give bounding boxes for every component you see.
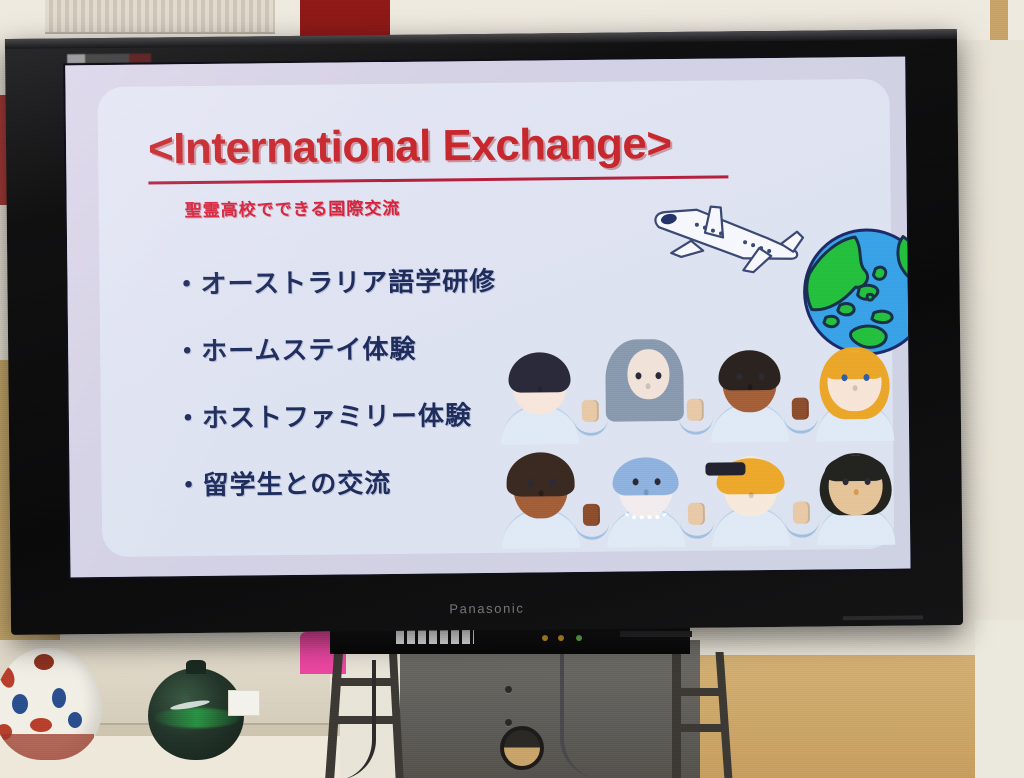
people-illustration [486,337,908,553]
player-led-2 [558,635,564,641]
player-led-1 [542,635,548,641]
photo-scene: Panasonic <International Exchange> 聖霊高校で… [0,0,1024,778]
person-dark-hair-medium-skin [802,441,908,546]
av-cable-2 [330,660,376,778]
presentation-slide: <International Exchange> 聖霊高校でできる国際交流 ・オ… [65,57,910,578]
ceiling-vent [45,0,275,34]
slide-subtitle: 聖霊高校でできる国際交流 [185,194,401,221]
player-led-3 [576,635,582,641]
person-blonde-sunglasses [697,442,803,547]
stand-rail-right-2 [676,724,728,732]
people-row-bottom [487,441,908,549]
tv-brand-logo: Panasonic [449,601,524,617]
bullet-item: ・ホームステイ体験 [174,328,497,368]
player-button-strip[interactable] [396,630,474,644]
person-blonde-long-hair [801,337,907,442]
slide-content-card: <International Exchange> 聖霊高校でできる国際交流 ・オ… [97,79,894,557]
tv-bezel-notch [843,615,923,620]
right-wall [975,620,1024,778]
person-hijab [591,339,697,444]
airplane-icon [647,192,808,284]
people-row-top [486,337,907,445]
stand-rail-right-1 [672,688,726,696]
person-dark-skin-curly-hair [487,444,593,549]
exhibit-label-card [228,690,260,716]
tv-screen: <International Exchange> 聖霊高校でできる国際交流 ・オ… [65,57,910,578]
person-blue-hair-necklace [592,443,698,548]
bullet-item: ・ホストファミリー体験 [175,395,498,435]
title-underline [148,175,728,184]
sunglasses-icon [705,462,745,475]
wood-sliver-top-right [990,0,1008,40]
player-disc-slot[interactable] [620,631,692,637]
bullet-list: ・オーストラリア語学研修 ・ホームステイ体験 ・ホストファミリー体験 ・留学生と… [173,261,498,502]
red-wall-strip [300,0,390,40]
slide-title: <International Exchange> [148,119,672,174]
stand-leg-right [672,652,681,778]
television: Panasonic <International Exchange> 聖霊高校で… [5,29,963,635]
person-dark-skin-short-hair [696,338,802,443]
tv-bezel-sticker [67,53,151,63]
bullet-item: ・オーストラリア語学研修 [173,261,496,301]
cabinet-port [500,726,544,770]
person-dark-hair-light-skin [486,340,592,445]
bullet-item: ・留学生との交流 [175,462,498,502]
av-cabinet [400,640,700,778]
